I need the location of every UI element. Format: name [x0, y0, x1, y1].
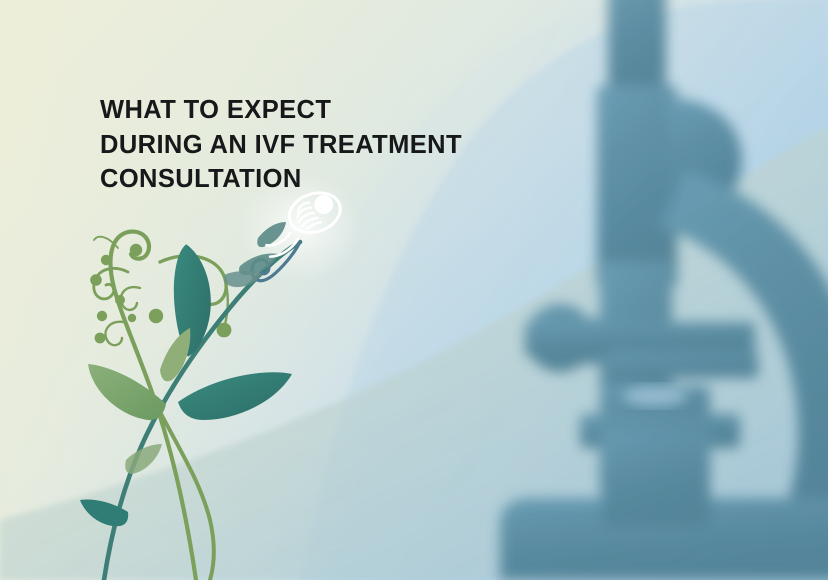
headline-line-2: DURING AN IVF TREATMENT [100, 133, 520, 159]
ivf-consultation-banner: WHAT TO EXPECT DURING AN IVF TREATMENT C… [0, 0, 828, 580]
headline-line-1: WHAT TO EXPECT [100, 98, 520, 124]
headline-line-3: CONSULTATION [100, 167, 520, 193]
halftone-texture-overlay [0, 0, 828, 580]
page-title: WHAT TO EXPECT DURING AN IVF TREATMENT C… [100, 98, 520, 193]
halftone-dots [0, 0, 828, 580]
